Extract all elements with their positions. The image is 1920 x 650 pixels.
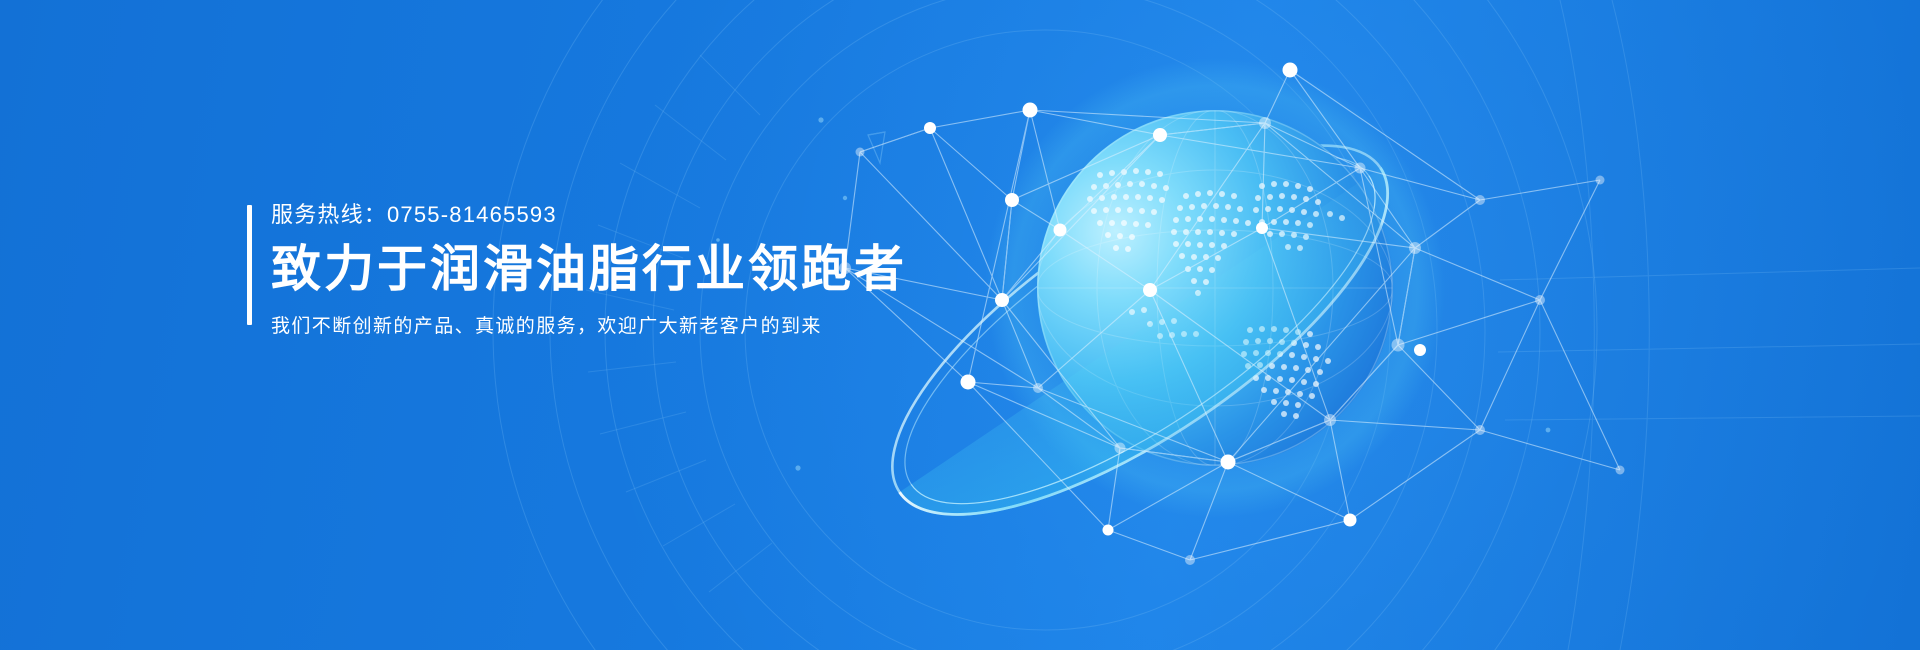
hero-copy-block: 服务热线：0755-81465593 致力于润滑油脂行业领跑者 我们不断创新的产… <box>247 202 907 340</box>
page-title: 致力于润滑油脂行业领跑者 <box>271 240 907 299</box>
service-hotline: 服务热线：0755-81465593 <box>271 202 907 228</box>
accent-bar <box>247 205 252 325</box>
hero-banner: 服务热线：0755-81465593 致力于润滑油脂行业领跑者 我们不断创新的产… <box>0 0 1920 650</box>
page-subtitle: 我们不断创新的产品、真诚的服务，欢迎广大新老客户的到来 <box>271 315 907 340</box>
